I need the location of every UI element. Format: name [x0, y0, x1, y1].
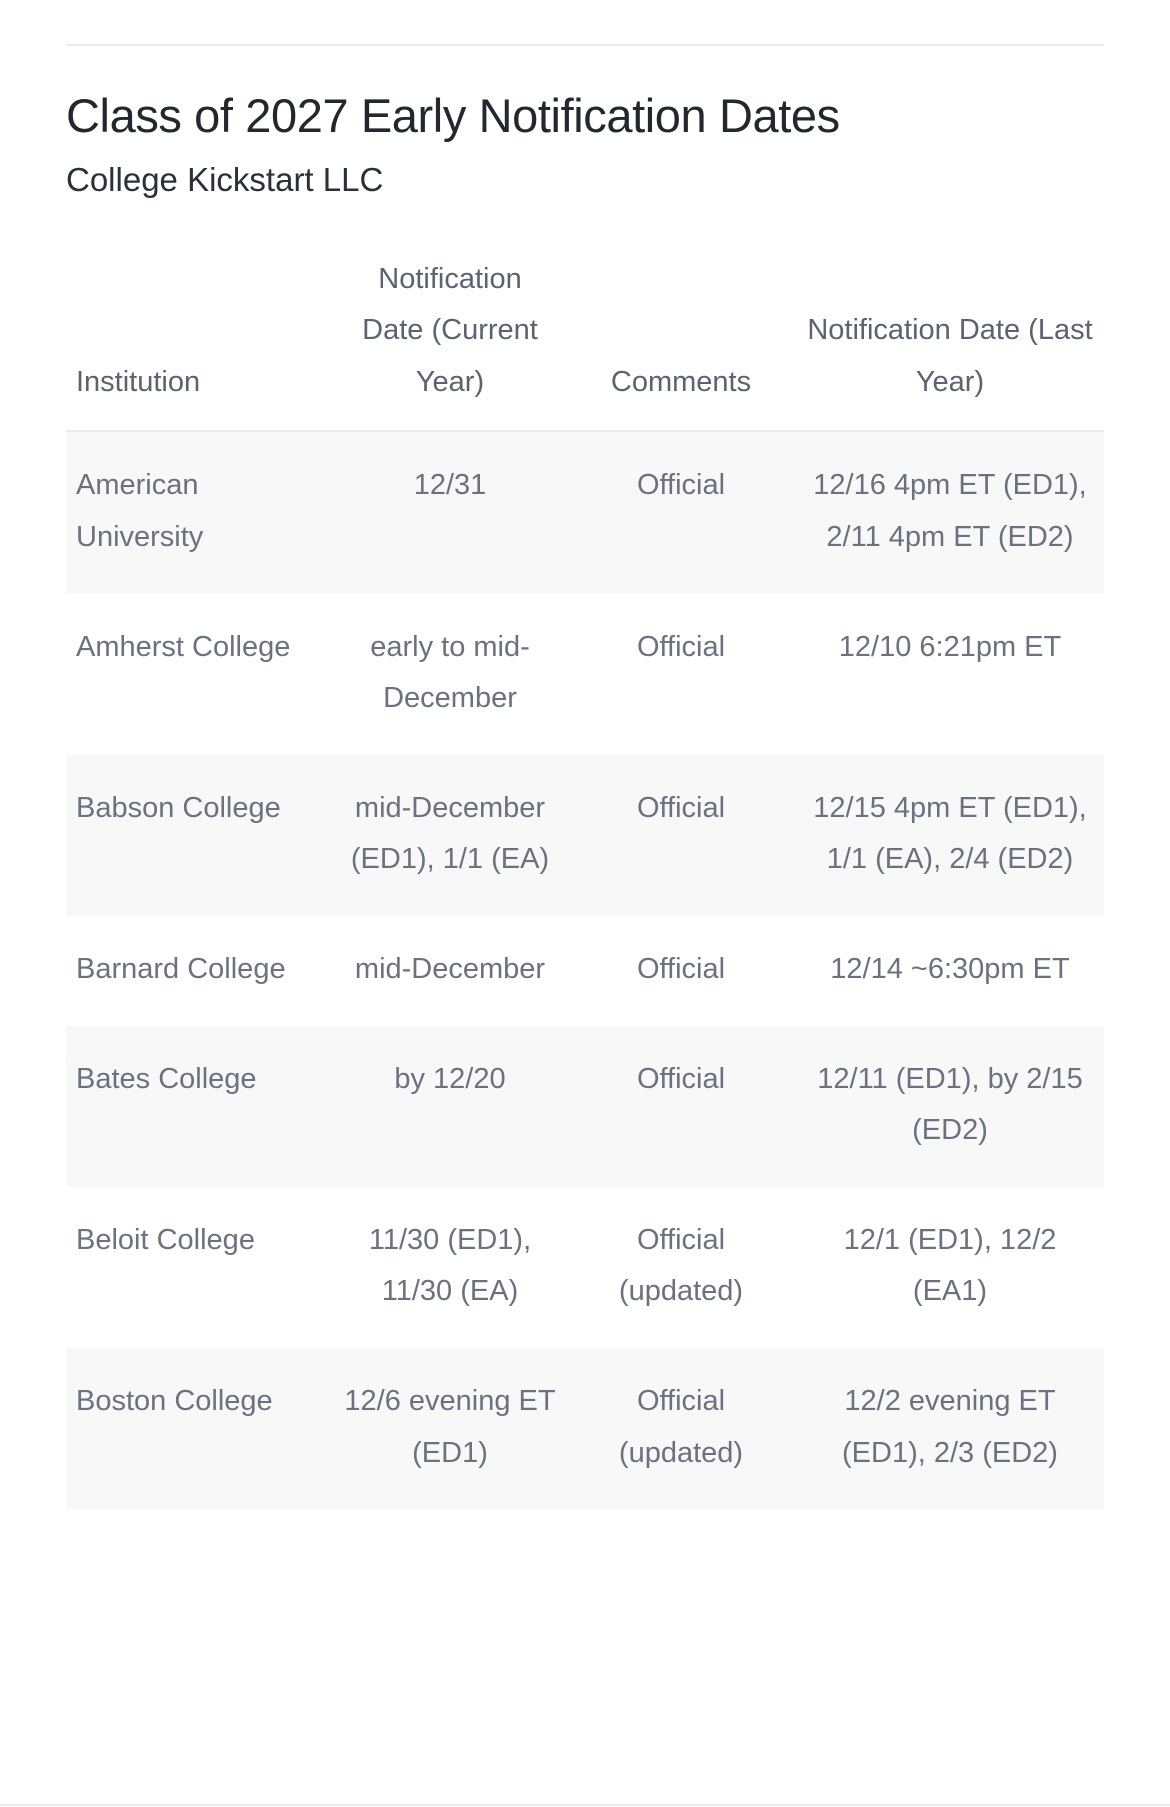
- cell-institution: Beloit College: [66, 1187, 334, 1348]
- table-row: Boston College 12/6 evening ET (ED1) Off…: [66, 1348, 1104, 1509]
- cell-last-year: 12/14 ~6:30pm ET: [796, 916, 1104, 1026]
- cell-institution: Amherst College: [66, 594, 334, 755]
- cell-comments: Official: [566, 594, 796, 755]
- document-page: Class of 2027 Early Notification Dates C…: [0, 44, 1170, 1509]
- cell-current-year: 11/30 (ED1), 11/30 (EA): [334, 1187, 566, 1348]
- column-header-institution: Institution: [66, 254, 334, 432]
- cell-current-year: 12/31: [334, 431, 566, 593]
- cell-comments: Official: [566, 755, 796, 916]
- cell-comments: Official: [566, 916, 796, 1026]
- cell-institution: Boston College: [66, 1348, 334, 1509]
- table-header: Institution Notification Date (Current Y…: [66, 254, 1104, 432]
- cell-current-year: 12/6 evening ET (ED1): [334, 1348, 566, 1509]
- column-header-last-year: Notification Date (Last Year): [796, 254, 1104, 432]
- table-row: American University 12/31 Official 12/16…: [66, 431, 1104, 593]
- cell-institution: Barnard College: [66, 916, 334, 1026]
- page-title: Class of 2027 Early Notification Dates: [66, 90, 1104, 143]
- cell-current-year: early to mid-December: [334, 594, 566, 755]
- cell-last-year: 12/1 (ED1), 12/2 (EA1): [796, 1187, 1104, 1348]
- column-header-current-year: Notification Date (Current Year): [334, 254, 566, 432]
- cell-comments: Official: [566, 431, 796, 593]
- cell-last-year: 12/15 4pm ET (ED1), 1/1 (EA), 2/4 (ED2): [796, 755, 1104, 916]
- cell-comments: Official (updated): [566, 1348, 796, 1509]
- cell-comments: Official: [566, 1026, 796, 1187]
- table-header-row: Institution Notification Date (Current Y…: [66, 254, 1104, 432]
- page-byline: College Kickstart LLC: [66, 159, 1104, 202]
- cell-current-year: mid-December: [334, 916, 566, 1026]
- column-header-comments: Comments: [566, 254, 796, 432]
- notification-dates-table: Institution Notification Date (Current Y…: [66, 254, 1104, 1510]
- cell-institution: Babson College: [66, 755, 334, 916]
- cell-institution: Bates College: [66, 1026, 334, 1187]
- cell-comments: Official (updated): [566, 1187, 796, 1348]
- table-row: Barnard College mid-December Official 12…: [66, 916, 1104, 1026]
- cell-last-year: 12/10 6:21pm ET: [796, 594, 1104, 755]
- table-row: Beloit College 11/30 (ED1), 11/30 (EA) O…: [66, 1187, 1104, 1348]
- table-body: American University 12/31 Official 12/16…: [66, 431, 1104, 1509]
- cell-current-year: mid-December (ED1), 1/1 (EA): [334, 755, 566, 916]
- table-row: Bates College by 12/20 Official 12/11 (E…: [66, 1026, 1104, 1187]
- table-container: Institution Notification Date (Current Y…: [66, 254, 1104, 1510]
- table-row: Amherst College early to mid-December Of…: [66, 594, 1104, 755]
- document-header: Class of 2027 Early Notification Dates C…: [66, 46, 1104, 202]
- cell-last-year: 12/16 4pm ET (ED1), 2/11 4pm ET (ED2): [796, 431, 1104, 593]
- bottom-divider: [0, 1804, 1170, 1806]
- cell-last-year: 12/11 (ED1), by 2/15 (ED2): [796, 1026, 1104, 1187]
- cell-institution: American University: [66, 431, 334, 593]
- cell-last-year: 12/2 evening ET (ED1), 2/3 (ED2): [796, 1348, 1104, 1509]
- table-row: Babson College mid-December (ED1), 1/1 (…: [66, 755, 1104, 916]
- cell-current-year: by 12/20: [334, 1026, 566, 1187]
